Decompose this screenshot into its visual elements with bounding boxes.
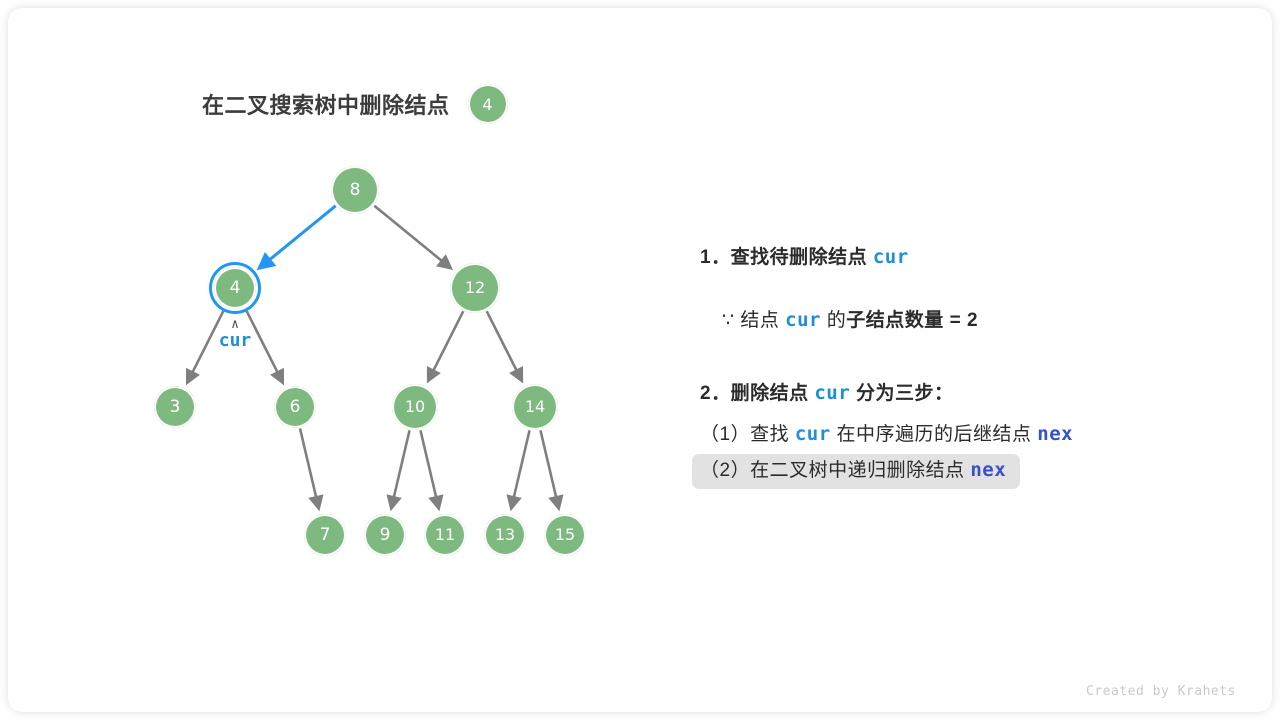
step-2-suffix: 分为三步： bbox=[856, 383, 954, 404]
step-1-code-cur: cur bbox=[873, 246, 909, 268]
substep-2-prefix: （2）在二叉树中递归删除结点 bbox=[700, 460, 965, 481]
reason-value: 2 bbox=[967, 310, 978, 331]
tree-edge-6-7 bbox=[300, 428, 319, 508]
substep-2-line-highlighted: （2）在二叉树中递归删除结点 nex bbox=[692, 454, 1020, 489]
tree-node-14: 14 bbox=[512, 384, 558, 430]
tree-node-13: 13 bbox=[484, 514, 526, 556]
reason-part-3: 子结点数量 bbox=[846, 310, 944, 331]
substep-1-line: （1）查找 cur 在中序遍历的后继结点 nex bbox=[700, 425, 1230, 444]
tree-node-4: 4 bbox=[214, 267, 256, 309]
tree-edge-10-11 bbox=[420, 430, 438, 508]
tree-edge-8-4 bbox=[259, 206, 336, 269]
tree-node-12: 12 bbox=[450, 263, 500, 313]
page-title: 在二叉搜索树中删除结点 bbox=[202, 88, 450, 120]
tree-edge-14-13 bbox=[511, 430, 529, 508]
reason-symbol: ∵ bbox=[722, 310, 735, 331]
cur-pointer: ∧ cur bbox=[205, 318, 265, 350]
tree-edge-12-14 bbox=[487, 311, 522, 381]
tree-node-9: 9 bbox=[364, 514, 406, 556]
reason-part-2: 的 bbox=[827, 310, 847, 331]
substep-1-prefix: （1）查找 bbox=[700, 424, 789, 445]
tree-edge-14-15 bbox=[540, 430, 558, 508]
step-1-line: 1．查找待删除结点 cur bbox=[700, 248, 1230, 267]
tree-node-11: 11 bbox=[424, 514, 466, 556]
substep-2-row: （2）在二叉树中递归删除结点 nex bbox=[700, 454, 1230, 489]
tree-node-15: 15 bbox=[544, 514, 586, 556]
page-title-row: 在二叉搜索树中删除结点 4 bbox=[202, 84, 508, 124]
slide-card: 在二叉搜索树中删除结点 4 841236101479111315 ∧ cur 1… bbox=[8, 8, 1272, 712]
cur-pointer-label: cur bbox=[219, 332, 252, 350]
explanation-panel: 1．查找待删除结点 cur ∵ 结点 cur 的子结点数量 = 2 2．删除结点… bbox=[700, 248, 1230, 489]
step-2-line: 2．删除结点 cur 分为三步： bbox=[700, 384, 1230, 403]
title-badge: 4 bbox=[468, 84, 508, 124]
reason-equals: = bbox=[950, 310, 962, 331]
tree-edge-10-9 bbox=[391, 430, 409, 508]
reason-part-1: 结点 bbox=[740, 310, 779, 331]
substep-1-middle: 在中序遍历的后继结点 bbox=[836, 424, 1031, 445]
tree-edge-8-12 bbox=[374, 206, 451, 269]
tree-node-7: 7 bbox=[304, 514, 346, 556]
step-2-code-cur: cur bbox=[814, 382, 850, 404]
substep-2-code-nex: nex bbox=[970, 459, 1006, 481]
step-2-prefix: 2．删除结点 bbox=[700, 383, 809, 404]
tree-node-10: 10 bbox=[392, 384, 438, 430]
substep-1-code-nex: nex bbox=[1037, 423, 1073, 445]
substep-1-code-cur: cur bbox=[795, 423, 831, 445]
reason-code-cur: cur bbox=[785, 309, 821, 331]
step-1-prefix: 1．查找待删除结点 bbox=[700, 247, 867, 268]
reason-line: ∵ 结点 cur 的子结点数量 = 2 bbox=[722, 311, 1230, 330]
tree-edge-12-10 bbox=[428, 311, 463, 381]
footer-credit: Created by Krahets bbox=[1086, 684, 1236, 699]
tree-node-3: 3 bbox=[154, 386, 196, 428]
tree-node-8: 8 bbox=[331, 166, 379, 214]
tree-node-6: 6 bbox=[274, 386, 316, 428]
